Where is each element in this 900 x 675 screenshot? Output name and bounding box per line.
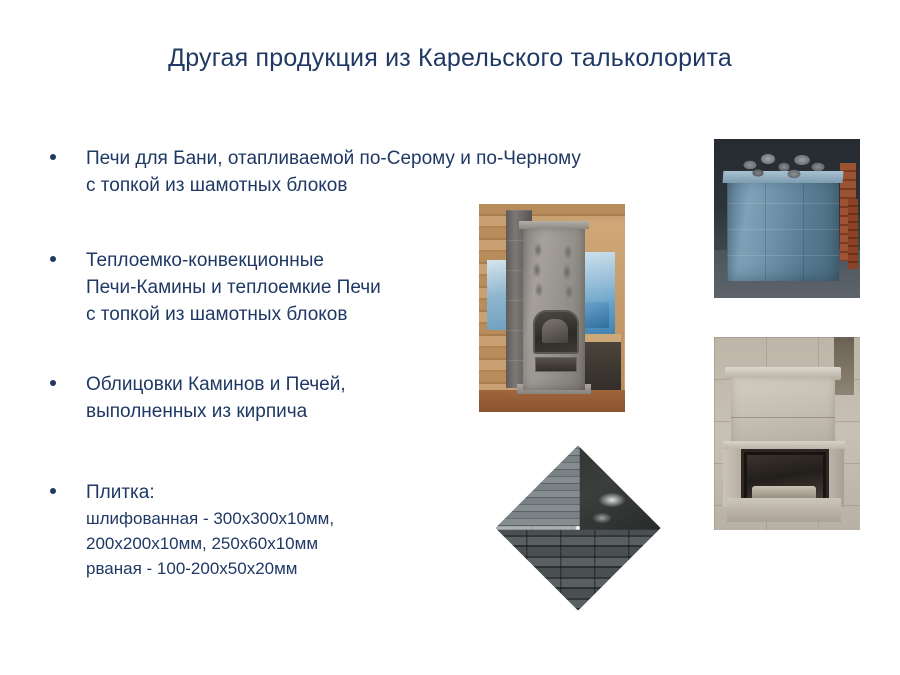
stove-top: [519, 221, 589, 229]
page-title: Другая продукция из Карельского тальколо…: [0, 44, 900, 73]
cabin-dark-unit: [579, 342, 621, 390]
fireplace-wall-gap: [834, 337, 854, 395]
bullet-marker-icon: [50, 256, 56, 262]
bullet-line: с топкой из шамотных блоков: [86, 172, 706, 199]
image-sauna-heater: [714, 139, 860, 298]
image-tile-diamond: [492, 442, 664, 614]
bullet-line: Печи для Бани, отапливаемой по-Серому и …: [86, 145, 706, 172]
bullet-item-1: Печи для Бани, отапливаемой по-Серому и …: [46, 145, 706, 199]
image-stone-fireplace: [714, 337, 860, 530]
bullet-marker-icon: [50, 488, 56, 494]
stove-ash-door: [535, 357, 577, 372]
stove-firebox-door: [533, 310, 579, 354]
fireplace-hood: [731, 377, 835, 445]
presentation-slide: Другая продукция из Карельского тальколо…: [0, 0, 900, 675]
stove-relief-left: [531, 240, 545, 302]
bullet-marker-icon: [50, 154, 56, 160]
fireplace-hearth: [727, 498, 841, 522]
heater-bricks-secondary: [848, 199, 858, 269]
heater-body: [727, 177, 839, 281]
bullet-row: Печи для Бани, отапливаемой по-Серому и …: [46, 145, 706, 199]
image-cabin-stove: [479, 204, 625, 412]
stove-relief-right: [561, 240, 575, 302]
bullet-marker-icon: [50, 380, 56, 386]
heater-stones: [738, 149, 832, 179]
